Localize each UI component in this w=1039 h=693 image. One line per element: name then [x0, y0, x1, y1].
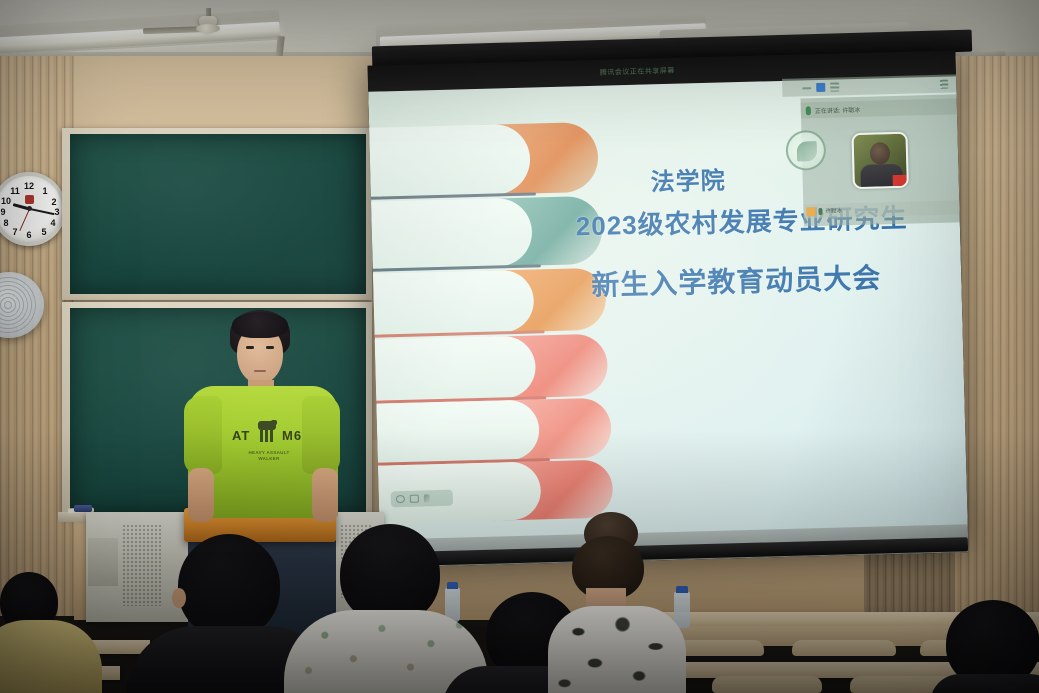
seat-near-1[interactable] [712, 676, 822, 693]
book-2 [368, 196, 603, 271]
presenter-sleeve-right [302, 396, 340, 474]
avatar-head [870, 142, 891, 165]
clock-icon[interactable] [396, 495, 405, 503]
more-icon[interactable] [940, 80, 948, 89]
shirt-subtext: HEAVY ASSAULT WALKER [240, 450, 298, 462]
book-1 [368, 122, 599, 199]
audience-member-5 [552, 512, 682, 693]
vc-participant-name: 许聪冰 [825, 206, 842, 214]
presenter-arm-right [312, 468, 338, 522]
share-banner-text: 腾讯会议正在共享屏幕 [600, 66, 675, 78]
clock-center-cap [27, 206, 32, 211]
seat-far-2[interactable] [792, 640, 896, 656]
lecture-hall-photo: 12 1 2 3 4 5 6 7 8 9 10 11 腾讯会议正在共享屏幕 [0, 0, 1039, 693]
clock-hour-9: 9 [0, 207, 10, 217]
clock-hour-6: 6 [22, 230, 36, 240]
slide-heading-line-3: 新生入学教育动员大会 [591, 256, 882, 304]
mic-small-icon [818, 207, 822, 214]
shirt-text-right: M6 [282, 428, 302, 443]
seal-inner-mark [797, 141, 818, 162]
clock-hour-1: 1 [38, 186, 52, 196]
presenter-sleeve-left [184, 396, 222, 474]
clock-hour-10: 10 [0, 196, 13, 206]
audience-1-shoulders [0, 620, 102, 693]
audience-2-ear [172, 588, 186, 608]
vc-speaking-label: 正在讲话: 许聪冰 [815, 104, 861, 114]
book-5-body [368, 399, 540, 464]
minimize-icon[interactable] [802, 87, 811, 89]
book-4-body [368, 335, 537, 402]
book-3 [368, 268, 607, 337]
microphone-icon [806, 106, 811, 115]
avatar-flag-badge [893, 175, 907, 186]
participant-avatar[interactable] [851, 132, 908, 189]
host-badge-icon [806, 207, 815, 216]
vc-toolbar[interactable] [782, 74, 956, 97]
projection-screen: 腾讯会议正在共享屏幕 [368, 50, 969, 567]
book-2-body [368, 198, 533, 271]
clock-hour-12: 12 [22, 181, 36, 191]
clock-hour-8: 8 [0, 218, 13, 228]
book-4 [368, 334, 609, 403]
presenter-eye-right [266, 346, 274, 349]
board-eraser [74, 505, 92, 512]
clock-hour-11: 11 [8, 186, 22, 196]
chalkboard-upper [70, 134, 366, 294]
audience-5-shoulders [548, 606, 686, 693]
pointer-icon[interactable] [424, 494, 430, 502]
book-1-body [368, 124, 531, 199]
presenter-mouth [254, 370, 266, 372]
list-view-icon[interactable] [830, 82, 839, 91]
slide-heading-line-1: 法学院 [650, 160, 726, 197]
note-icon[interactable] [410, 495, 419, 503]
grid-view-icon[interactable] [816, 83, 825, 92]
presenter: AT M6 HEAVY ASSAULT WALKER [180, 300, 350, 530]
at-at-walker-icon [256, 420, 278, 444]
audience-2-head [178, 534, 280, 638]
presenter-eye-left [246, 346, 254, 349]
audience-3-head [340, 524, 440, 624]
presenter-arm-left [188, 468, 214, 522]
audience-6-shoulders [930, 674, 1039, 693]
presenter-hair-fringe [232, 312, 288, 338]
clock-second-hand [19, 209, 30, 231]
audience-member-6 [936, 600, 1039, 693]
slide-toolbar[interactable] [391, 490, 453, 508]
book-5 [368, 398, 612, 465]
audience-member-1 [0, 572, 110, 693]
clock-hour-5: 5 [37, 227, 51, 237]
slide-content: 法学院 2023级农村发展专业研究生 新生入学教育动员大会 [368, 76, 968, 541]
clock-hour-2: 2 [47, 197, 61, 207]
book-3-body [368, 270, 535, 337]
shirt-text-left: AT [232, 428, 250, 443]
clock-brand-logo [25, 195, 34, 204]
